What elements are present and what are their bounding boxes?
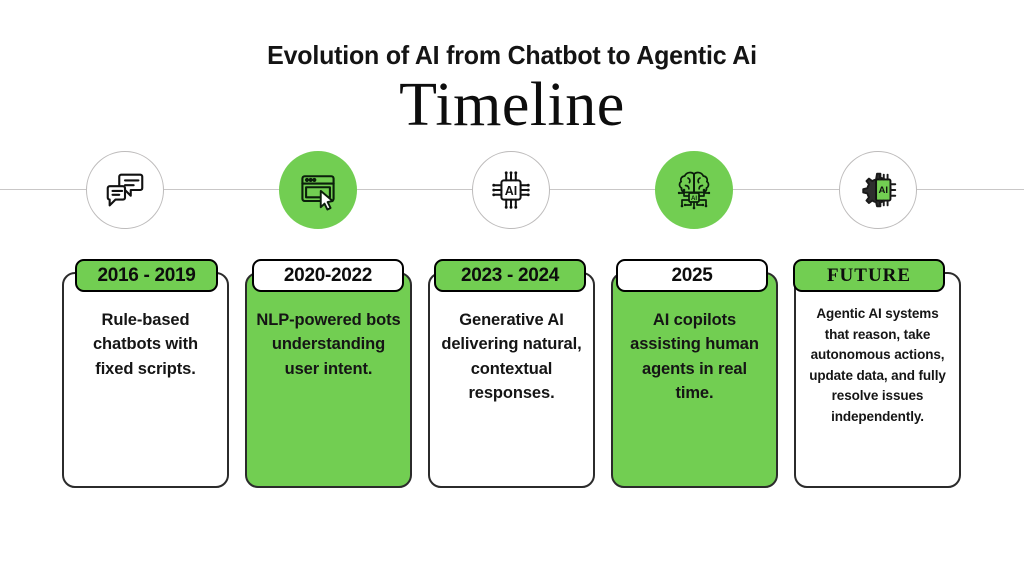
svg-text:AI: AI — [691, 196, 697, 202]
milestone-text-4: AI copilots assisting human agents in re… — [613, 308, 776, 406]
milestone-card-1[interactable]: Rule-based chatbots with fixed scripts. — [62, 272, 229, 488]
timeline-node-1[interactable] — [86, 151, 164, 229]
svg-text:AI: AI — [878, 185, 888, 196]
timeline-node-4[interactable]: AI — [655, 151, 733, 229]
page-title: Evolution of AI from Chatbot to Agentic … — [20, 40, 1003, 71]
milestone-badge-2[interactable]: 2020-2022 — [252, 259, 404, 292]
milestone-text-2: NLP-powered bots understanding user inte… — [247, 308, 410, 381]
milestone-badge-5[interactable]: FUTURE — [793, 259, 945, 292]
browser-cursor-icon — [296, 168, 340, 212]
milestone-card-3[interactable]: Generative AI delivering natural, contex… — [428, 272, 595, 488]
milestone-text-1: Rule-based chatbots with fixed scripts. — [64, 308, 227, 381]
timeline-node-5[interactable]: AI — [839, 151, 917, 229]
page-subtitle: Timeline — [0, 73, 1024, 138]
chat-bubbles-icon — [102, 167, 148, 213]
timeline-node-2[interactable] — [279, 151, 357, 229]
page-title-block: Evolution of AI from Chatbot to Agentic … — [0, 40, 1024, 138]
milestone-card-2[interactable]: NLP-powered bots understanding user inte… — [245, 272, 412, 488]
milestone-badge-4[interactable]: 2025 — [616, 259, 768, 292]
milestone-badge-3[interactable]: 2023 - 2024 — [434, 259, 586, 292]
milestone-badge-1[interactable]: 2016 - 2019 — [75, 259, 218, 292]
gear-ai-chip-icon: AI — [855, 167, 901, 213]
svg-text:AI: AI — [505, 184, 517, 198]
milestone-text-3: Generative AI delivering natural, contex… — [430, 308, 593, 406]
timeline-node-3[interactable]: AI — [472, 151, 550, 229]
milestone-text-5: Agentic AI systems that reason, take aut… — [796, 304, 959, 427]
ai-chip-icon: AI — [488, 167, 534, 213]
milestone-card-4[interactable]: AI copilots assisting human agents in re… — [611, 272, 778, 488]
milestone-card-5[interactable]: Agentic AI systems that reason, take aut… — [794, 272, 961, 488]
ai-brain-circuit-icon: AI — [670, 166, 718, 214]
